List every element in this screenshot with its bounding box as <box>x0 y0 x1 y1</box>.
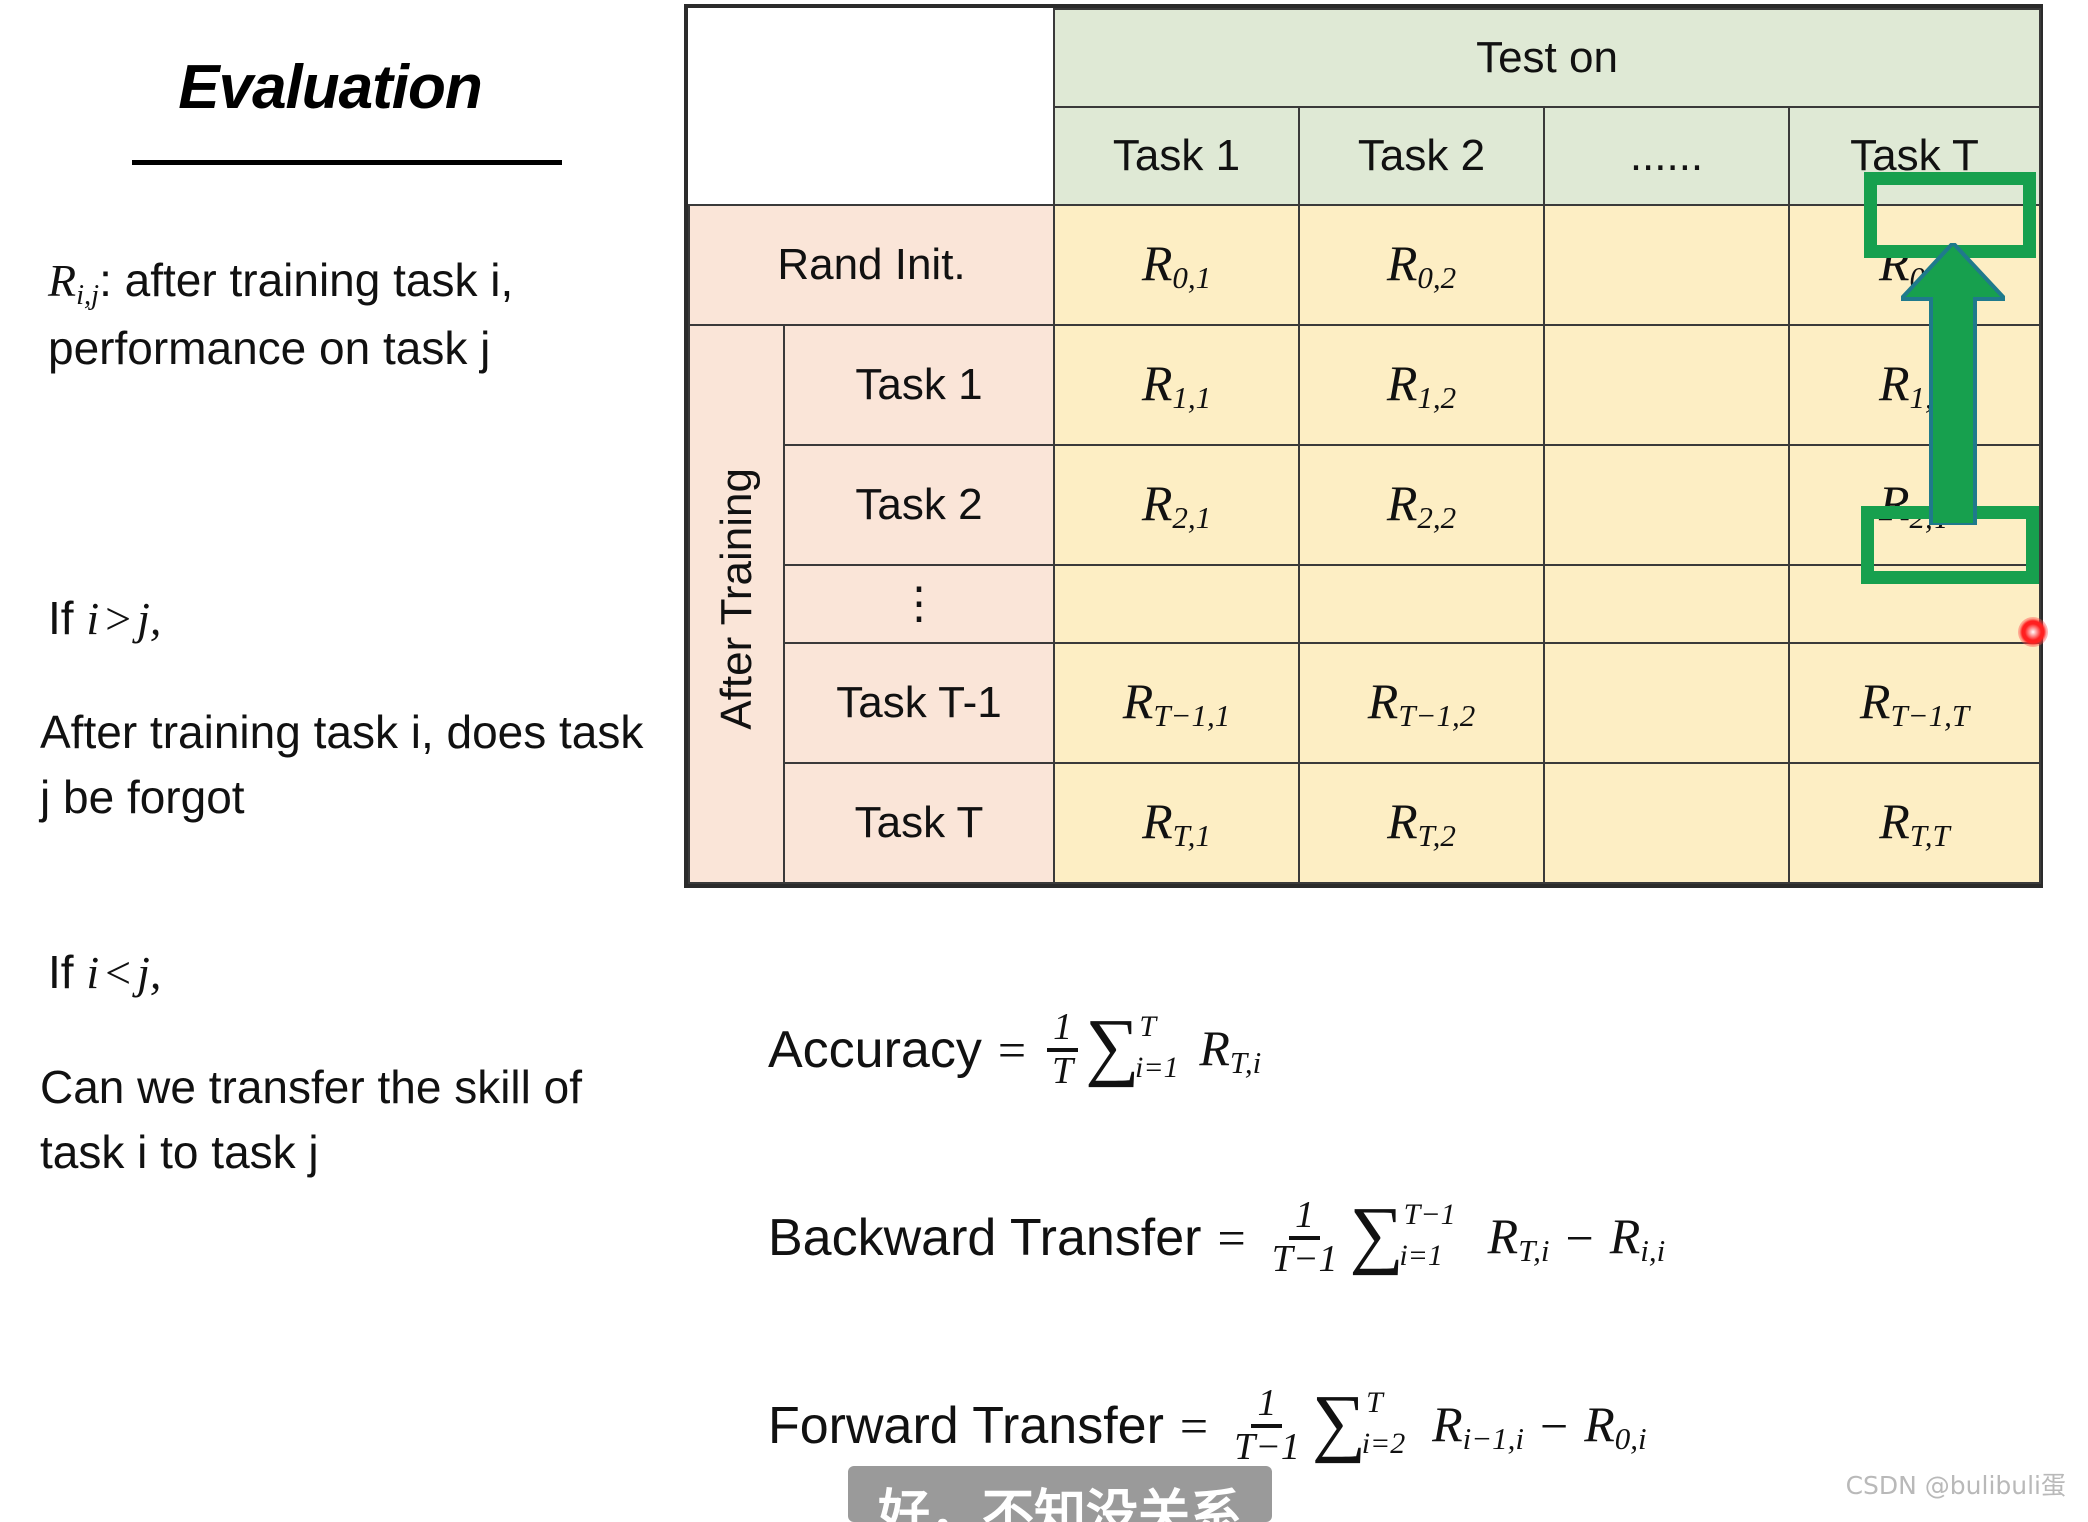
backward-fraction: 1 T−1 <box>1266 1196 1344 1280</box>
row-label-task-1: Task 1 <box>784 325 1054 445</box>
title-underline <box>132 160 562 165</box>
definition-text: : after training task i, performance on … <box>48 254 513 374</box>
cond1-operator: > <box>99 593 137 644</box>
cond1-prefix: If <box>48 592 86 644</box>
accuracy-formula: Accuracy = 1 T ∑ T i=1 RT,i <box>768 1008 1261 1092</box>
accuracy-term: RT,i <box>1199 1019 1261 1081</box>
cell-dots-1 <box>1054 565 1299 643</box>
table-row: Task T-1 RT−1,1 RT−1,2 RT−1,T <box>689 643 2040 763</box>
table-row: ⋮ <box>689 565 2040 643</box>
table-header-row-1: Test on <box>689 9 2040 107</box>
csdn-watermark: CSDN @bulibuli蛋 <box>1846 1466 2066 1502</box>
forward-term-1: Ri−1,i <box>1432 1395 1524 1457</box>
cond1-rhs: j <box>137 593 150 644</box>
row-label-vertical-dots: ⋮ <box>784 565 1054 643</box>
cell-r2-1: R2,1 <box>1054 445 1299 565</box>
cell-dots-ellipsis <box>1544 565 1789 643</box>
backward-transfer-label: Backward Transfer <box>768 1208 1202 1268</box>
column-header-ellipsis: ...... <box>1544 107 1789 205</box>
backward-term-2: Ri,i <box>1610 1207 1666 1269</box>
cell-r2-ellipsis <box>1544 445 1789 565</box>
table-row: After Training Task 1 R1,1 R1,2 R1,T <box>689 325 2040 445</box>
column-header-task-t: Task T <box>1789 107 2040 205</box>
cell-rTm1-2: RT−1,2 <box>1299 643 1544 763</box>
accuracy-fraction: 1 T <box>1046 1008 1079 1092</box>
forward-term-2: R0,i <box>1584 1395 1646 1457</box>
cond2-lhs: i <box>86 947 99 998</box>
condition-forgetting: If i>j, <box>48 586 648 651</box>
forward-transfer-label: Forward Transfer <box>768 1396 1164 1456</box>
table-row: Rand Init. R0,1 R0,2 R0,T <box>689 205 2040 325</box>
forward-summation-icon: ∑ T i=2 <box>1312 1392 1366 1459</box>
cell-r0-1: R0,1 <box>1054 205 1299 325</box>
definition-subscript: i,j <box>76 280 99 311</box>
test-on-header: Test on <box>1054 9 2040 107</box>
cell-rTm1-ellipsis <box>1544 643 1789 763</box>
slide-canvas: Evaluation Ri,j: after training task i, … <box>0 0 2088 1505</box>
cond2-prefix: If <box>48 946 86 998</box>
evaluation-matrix-table: Test on Task 1 Task 2 ...... Task T Rand… <box>684 4 2043 888</box>
backward-term-1: RT,i <box>1488 1207 1550 1269</box>
subtitle-overlay: 好，不知没关系 <box>848 1466 1272 1522</box>
backward-minus-operator: − <box>1550 1209 1610 1267</box>
column-header-task-1: Task 1 <box>1054 107 1299 205</box>
cell-dots-T <box>1789 565 2040 643</box>
cell-rTm1-1: RT−1,1 <box>1054 643 1299 763</box>
transfer-description: Can we transfer the skill of task i to t… <box>40 1055 660 1186</box>
cell-rT-ellipsis <box>1544 763 1789 883</box>
cell-rT-2: RT,2 <box>1299 763 1544 883</box>
condition-transfer: If i<j, <box>48 940 648 1005</box>
cell-rT-1: RT,1 <box>1054 763 1299 883</box>
backward-equals: = <box>1202 1209 1262 1267</box>
forward-fraction: 1 T−1 <box>1228 1384 1306 1468</box>
cell-r0-2: R0,2 <box>1299 205 1544 325</box>
row-label-rand-init: Rand Init. <box>689 205 1054 325</box>
cell-r1-ellipsis <box>1544 325 1789 445</box>
cell-rTm1-T: RT−1,T <box>1789 643 2040 763</box>
matrix-grid: Test on Task 1 Task 2 ...... Task T Rand… <box>688 8 2041 884</box>
left-text-column: Evaluation Ri,j: after training task i, … <box>0 0 660 1505</box>
definition-paragraph: Ri,j: after training task i, performance… <box>48 248 648 382</box>
laser-pointer-dot <box>2018 617 2048 647</box>
backward-transfer-formula: Backward Transfer = 1 T−1 ∑ T−1 i=1 RT,i… <box>768 1196 1665 1280</box>
backward-summation-icon: ∑ T−1 i=1 <box>1349 1204 1403 1271</box>
cell-rT-T: RT,T <box>1789 763 2040 883</box>
cell-r1-1: R1,1 <box>1054 325 1299 445</box>
after-training-side-label: After Training <box>689 325 784 883</box>
green-up-arrow-icon <box>1901 243 2005 525</box>
cond1-lhs: i <box>86 593 99 644</box>
cond2-rhs: j <box>137 947 150 998</box>
page-title: Evaluation <box>60 52 600 123</box>
forward-minus-operator: − <box>1524 1397 1584 1455</box>
cell-r2-2: R2,2 <box>1299 445 1544 565</box>
cond2-suffix: , <box>150 947 162 998</box>
accuracy-equals: = <box>982 1021 1042 1079</box>
cell-r1-2: R1,2 <box>1299 325 1544 445</box>
definition-symbol: R <box>48 255 76 306</box>
forward-equals: = <box>1164 1397 1224 1455</box>
table-row: Task T RT,1 RT,2 RT,T <box>689 763 2040 883</box>
corner-blank-cell <box>689 9 1054 205</box>
row-label-task-2: Task 2 <box>784 445 1054 565</box>
column-header-task-2: Task 2 <box>1299 107 1544 205</box>
accuracy-label: Accuracy <box>768 1020 982 1080</box>
row-label-task-t-minus-1: Task T-1 <box>784 643 1054 763</box>
forward-transfer-formula: Forward Transfer = 1 T−1 ∑ T i=2 Ri−1,i … <box>768 1384 1647 1468</box>
cond1-suffix: , <box>150 593 162 644</box>
cell-r0-ellipsis <box>1544 205 1789 325</box>
row-label-task-t: Task T <box>784 763 1054 883</box>
accuracy-summation-icon: ∑ T i=1 <box>1085 1016 1139 1083</box>
subtitle-text: 好，不知没关系 <box>848 1472 1272 1522</box>
table-row: Task 2 R2,1 R2,2 R2,T <box>689 445 2040 565</box>
cell-dots-2 <box>1299 565 1544 643</box>
cond2-operator: < <box>99 947 137 998</box>
forgetting-description: After training task i, does task j be fo… <box>40 700 650 831</box>
